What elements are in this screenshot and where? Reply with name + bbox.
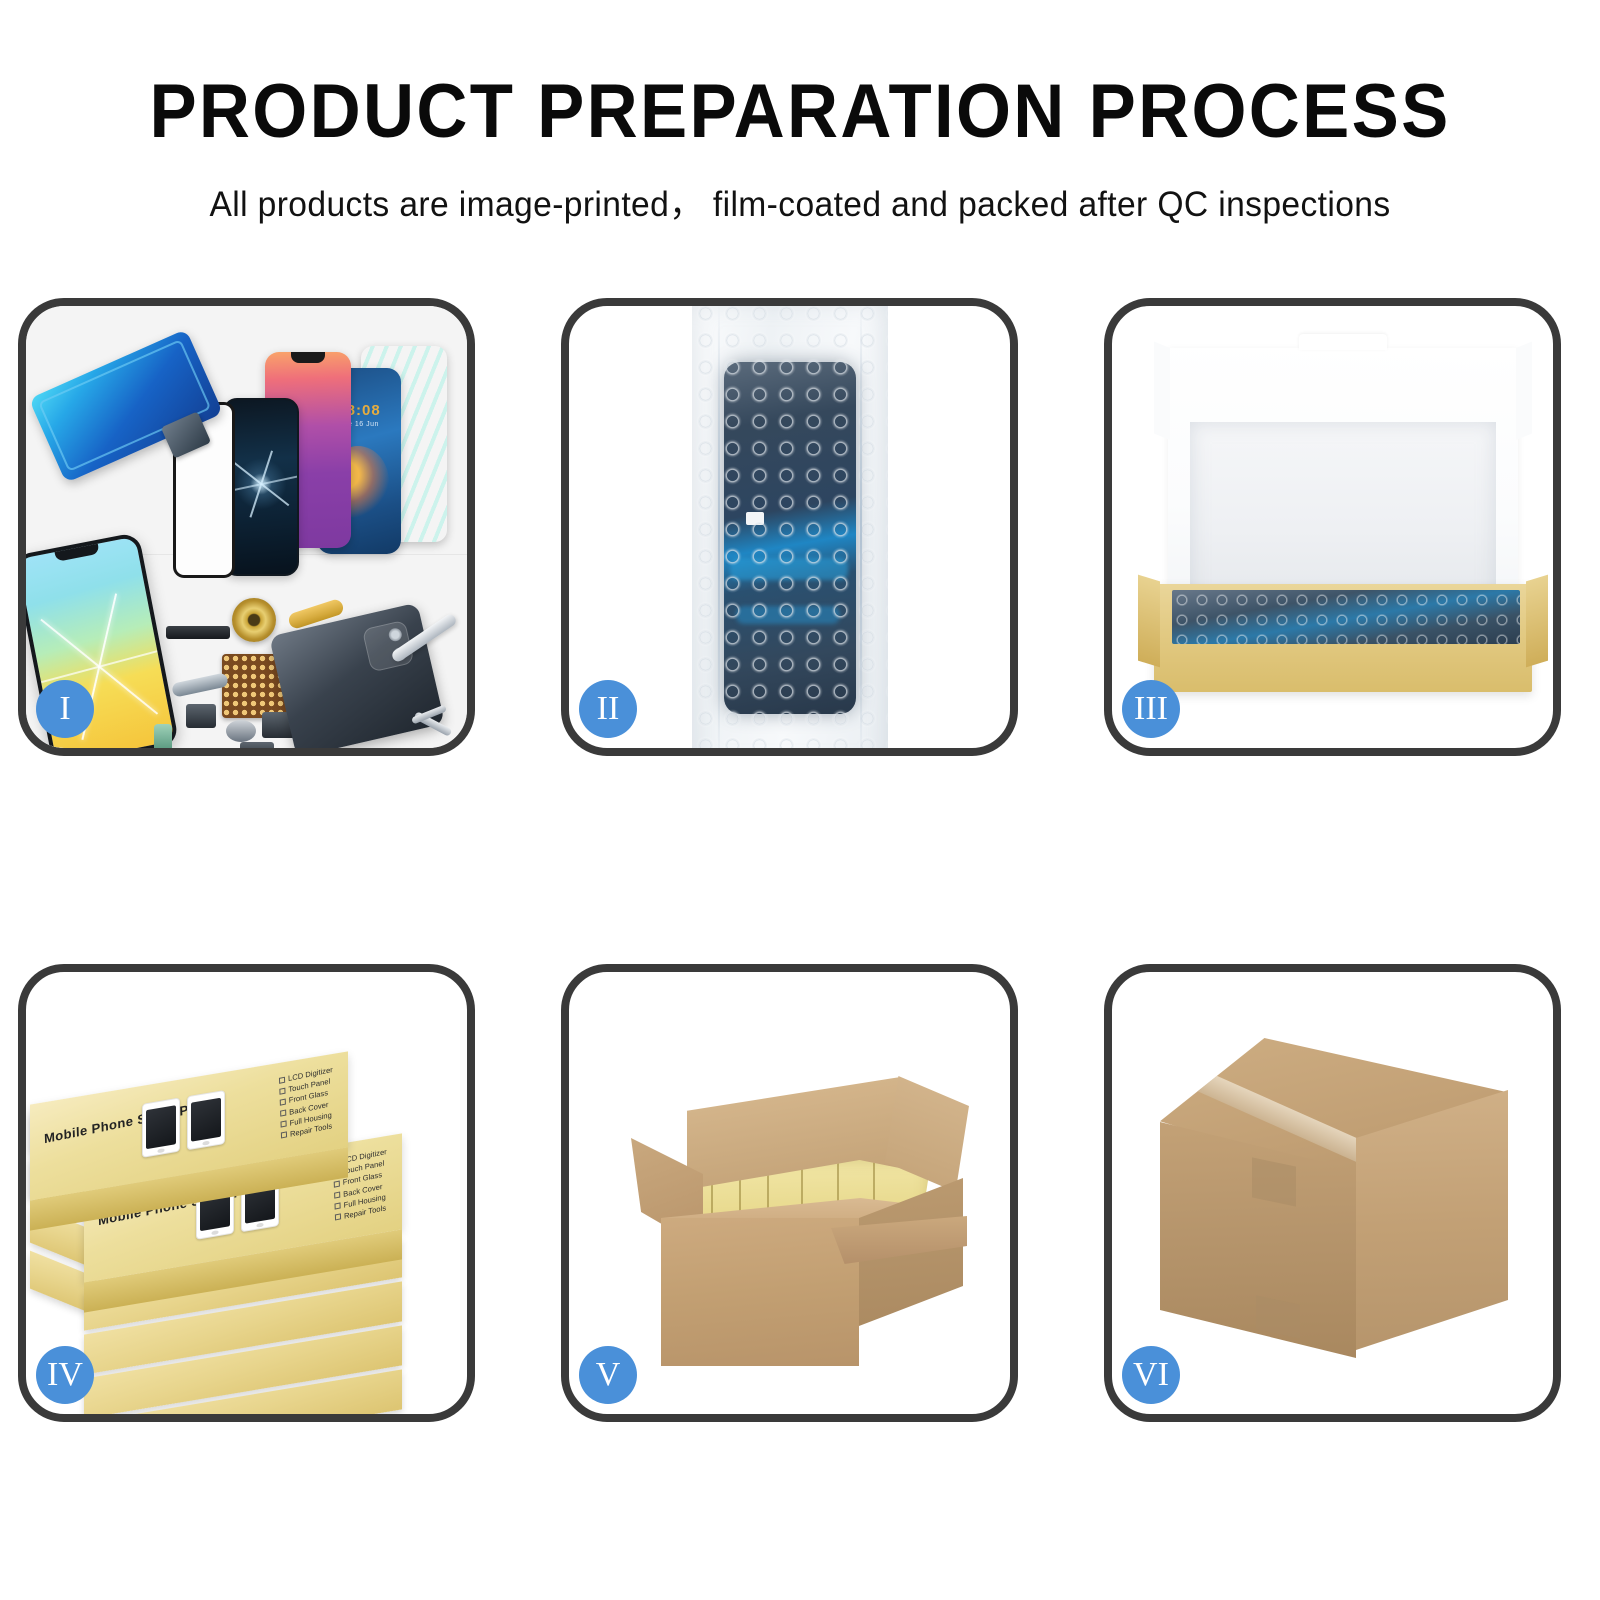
checkbox-icon bbox=[335, 1214, 341, 1221]
checkbox-icon bbox=[280, 1087, 286, 1094]
step-6-image bbox=[1112, 972, 1553, 1414]
bubble-highlights bbox=[692, 306, 888, 748]
photo-screen bbox=[191, 1098, 221, 1142]
sim-tray-part bbox=[154, 724, 172, 748]
small-part bbox=[240, 742, 274, 748]
carton-front-face bbox=[661, 1218, 859, 1366]
process-step-grid: 08:08 Tue 16 Jun bbox=[18, 298, 1582, 1422]
product-photo bbox=[142, 1098, 180, 1158]
step-1-image: 08:08 Tue 16 Jun bbox=[26, 306, 467, 748]
small-part bbox=[186, 704, 216, 728]
tray-side-lip bbox=[1138, 575, 1160, 668]
wrap-crease bbox=[860, 306, 862, 748]
home-button-icon bbox=[203, 1141, 210, 1146]
step-badge-2: II bbox=[579, 680, 637, 738]
process-step-panel-4: Mobile Phone Spare Parts LCD Digitizer T… bbox=[18, 964, 475, 1422]
checkbox-icon bbox=[334, 1180, 340, 1187]
step-badge-6: VI bbox=[1122, 1346, 1180, 1404]
checkbox-icon bbox=[280, 1109, 286, 1116]
process-step-panel-2: II bbox=[561, 298, 1018, 756]
product-photo bbox=[187, 1090, 225, 1150]
home-button-icon bbox=[158, 1148, 165, 1153]
bar-connector-part bbox=[166, 626, 230, 639]
wrap-crease bbox=[718, 306, 720, 748]
small-part bbox=[226, 720, 256, 742]
step-badge-1: I bbox=[36, 680, 94, 738]
page-header: PRODUCT PREPARATION PROCESS All products… bbox=[0, 0, 1600, 227]
checkbox-icon bbox=[281, 1132, 287, 1139]
tray-side-lip bbox=[1526, 575, 1548, 668]
page-subtitle: All products are image-printed， film-coa… bbox=[32, 176, 1568, 227]
lid-side-flap bbox=[1516, 342, 1532, 440]
checkbox-icon bbox=[280, 1098, 286, 1105]
lid-side-flap bbox=[1154, 342, 1170, 440]
checkbox-icon bbox=[281, 1121, 287, 1128]
box-checklist: LCD Digitizer Touch Panel Front Glass Ba… bbox=[279, 1065, 335, 1140]
open-shipping-carton bbox=[569, 972, 1010, 1414]
wrapped-screen-in-box bbox=[1172, 590, 1520, 644]
step-4-image: Mobile Phone Spare Parts LCD Digitizer T… bbox=[26, 972, 467, 1414]
bubble-wrap-sheet bbox=[692, 306, 888, 748]
checkbox-icon bbox=[334, 1191, 340, 1198]
step-5-image bbox=[569, 972, 1010, 1414]
lid-tab bbox=[1299, 334, 1387, 350]
checkbox-icon bbox=[279, 1076, 285, 1083]
process-step-panel-1: 08:08 Tue 16 Jun bbox=[18, 298, 475, 756]
bubble-highlights bbox=[1172, 590, 1520, 644]
mailer-box-tray bbox=[1154, 584, 1532, 692]
process-step-panel-3: III bbox=[1104, 298, 1561, 756]
step-badge-5: V bbox=[579, 1346, 637, 1404]
home-button-icon bbox=[212, 1230, 219, 1235]
step-badge-3: III bbox=[1122, 680, 1180, 738]
process-step-panel-6: VI bbox=[1104, 964, 1561, 1422]
speaker-coil-part bbox=[232, 598, 276, 642]
box-product-photos bbox=[142, 1090, 225, 1158]
process-step-panel-5: V bbox=[561, 964, 1018, 1422]
step-badge-4: IV bbox=[36, 1346, 94, 1404]
home-button-icon bbox=[257, 1223, 264, 1228]
step-3-image bbox=[1112, 306, 1553, 748]
retail-box-stack: Mobile Phone Spare Parts LCD Digitizer T… bbox=[26, 972, 467, 1414]
step-2-image bbox=[569, 306, 1010, 748]
checkbox-icon bbox=[335, 1203, 341, 1210]
notch-icon bbox=[291, 352, 325, 363]
page-title: PRODUCT PREPARATION PROCESS bbox=[56, 74, 1544, 150]
photo-screen bbox=[146, 1105, 176, 1149]
shatter-line-icon bbox=[41, 650, 157, 683]
